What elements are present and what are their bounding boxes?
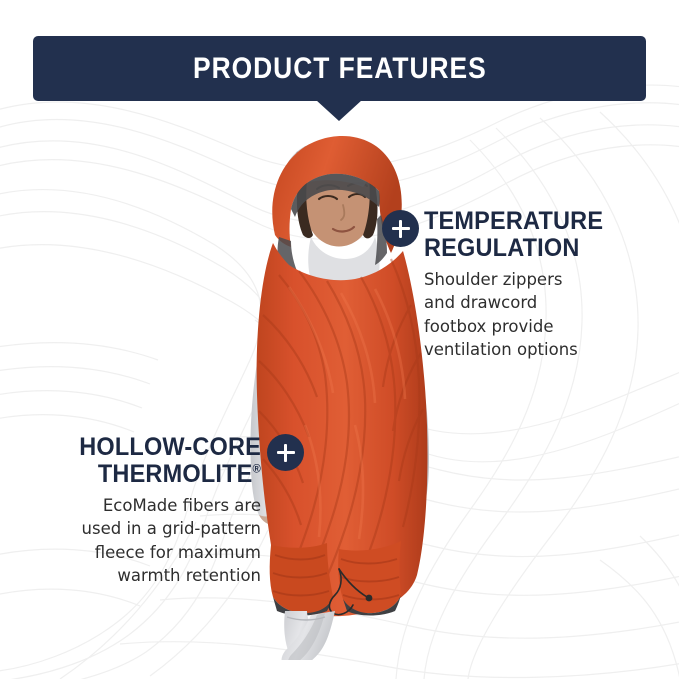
callout-body-line-2: and drawcord [424,291,629,314]
callout-heading-line-2: REGULATION [424,234,579,262]
callout-body-line-3: fleece for maximum [55,541,261,564]
plus-icon[interactable] [267,434,304,471]
callout-heading: TEMPERATURE REGULATION [424,208,617,261]
callout-body-line-4: ventilation options [424,338,629,361]
product-features-banner: PRODUCT FEATURES [33,36,646,101]
callout-body-line-2: used in a grid-pattern [55,517,261,540]
banner-pointer-triangle [316,100,362,121]
registered-trademark-symbol: ® [252,461,261,475]
callout-heading-line-1: TEMPERATURE [424,207,603,235]
callout-temperature-regulation: TEMPERATURE REGULATION Shoulder zippers … [424,208,629,362]
callout-hollow-core-thermolite: HOLLOW-CORE THERMOLITE® EcoMade fibers a… [55,434,261,588]
callout-body: Shoulder zippers and drawcord footbox pr… [424,268,629,362]
callout-body-line-1: Shoulder zippers [424,268,629,291]
model-socks [282,611,335,660]
callout-body-line-4: warmth retention [55,564,261,587]
callout-heading-line-2: THERMOLITE [98,460,253,488]
page-title: PRODUCT FEATURES [193,52,487,86]
callout-heading: HOLLOW-CORE THERMOLITE® [67,434,261,487]
infographic-canvas: PRODUCT FEATURES [0,0,679,679]
callout-body: EcoMade fibers are used in a grid-patter… [55,494,261,588]
callout-body-line-1: EcoMade fibers are [55,494,261,517]
plus-icon[interactable] [382,210,419,247]
callout-heading-line-1: HOLLOW-CORE [79,433,261,461]
callout-body-line-3: footbox provide [424,315,629,338]
